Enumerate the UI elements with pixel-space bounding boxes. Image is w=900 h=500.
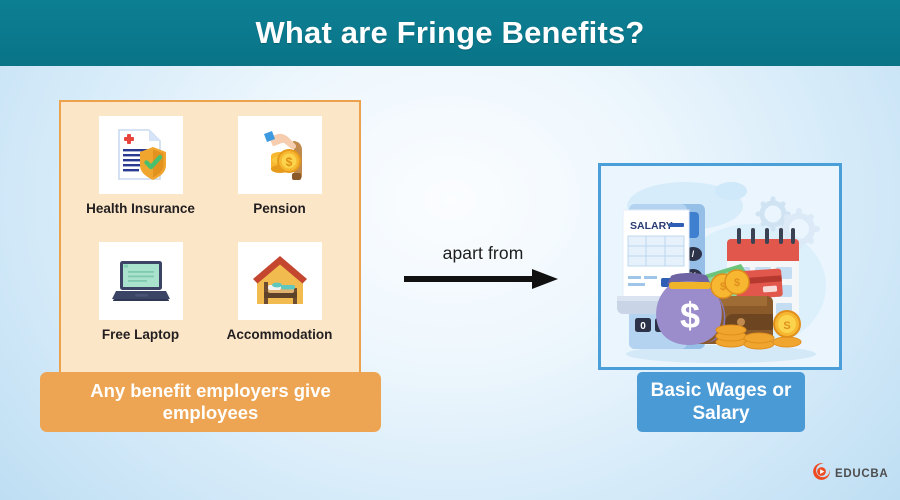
coin-symbol: S [783,320,790,332]
benefit-tile-free-laptop[interactable]: Free Laptop [71,242,210,368]
page-title: What are Fringe Benefits? [255,15,644,51]
benefit-label: Pension [253,201,306,216]
house-bed-icon [238,242,322,320]
right-arrow-icon [404,276,536,282]
benefit-tile-accommodation[interactable]: Accommodation [210,242,349,368]
laptop-icon [99,242,183,320]
benefit-label: Free Laptop [102,327,179,342]
header-banner: What are Fringe Benefits? [0,0,900,66]
health-insurance-icon [99,116,183,194]
benefit-tile-health-insurance[interactable]: Health Insurance [71,116,210,242]
right-arrow-head-icon [532,269,558,289]
benefits-caption-text: Any benefit employers give employees [50,380,371,424]
benefits-caption-box: Any benefit employers give employees [40,372,381,432]
benefits-grid: Health Insurance $ [61,102,359,373]
svg-text:$: $ [720,281,726,293]
benefit-tile-pension[interactable]: $ Pension [210,116,349,242]
infographic-canvas: What are Fringe Benefits? [0,0,900,500]
svg-text:$: $ [285,155,292,169]
benefit-label: Accommodation [227,327,333,342]
svg-text:$: $ [734,277,740,289]
educba-branding[interactable]: EDUCBA [812,464,888,484]
educba-logo-icon [812,462,831,486]
money-bag-symbol: $ [680,295,700,336]
salary-slip-title: SALARY [630,220,673,232]
connector-label: apart from [413,243,553,264]
svg-text:0: 0 [640,321,646,332]
educba-logo-text: EDUCBA [835,468,888,480]
salary-panel: /X- 123 0.= SALARY [598,163,842,370]
benefits-panel: Health Insurance $ [59,100,361,375]
salary-caption-text: Basic Wages or Salary [637,379,805,425]
salary-illustration: /X- 123 0.= SALARY [601,166,839,367]
pension-icon: $ [238,116,322,194]
connector-group: apart from [404,243,562,295]
salary-caption-box: Basic Wages or Salary [637,372,805,432]
benefit-label: Health Insurance [86,201,195,216]
